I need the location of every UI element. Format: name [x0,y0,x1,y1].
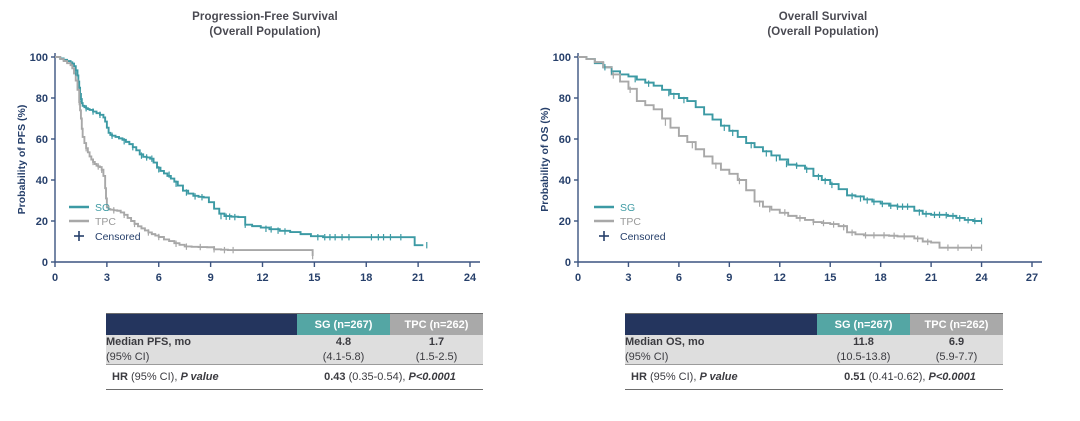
x-tick-label: 3 [104,272,110,284]
y-axis-label: Probability of OS (%) [540,108,551,212]
cell-tpc-median: 6.9 (5.9-7.7) [910,335,1003,365]
x-tick-label: 9 [726,272,732,284]
header-tpc: TPC (n=262) [910,314,1003,336]
x-tick-label: 21 [412,272,424,284]
header-sg: SG (n=267) [817,314,910,336]
x-tick-label: 27 [1026,272,1038,284]
cell-tpc-ci: (1.5-2.5) [416,351,458,363]
y-tick-label: 20 [36,216,48,228]
chart-title-line2: (Overall Population) [566,25,1080,40]
cell-tpc-ci: (5.9-7.7) [936,351,978,363]
table-row-hr: HR (95% CI), P value 0.43 (0.35-0.54), P… [106,365,483,390]
table-header-row: SG (n=267) TPC (n=262) [106,314,483,336]
y-tick-label: 0 [42,257,48,269]
table-header-row: SG (n=267) TPC (n=262) [625,314,1003,336]
row-label-line2: (95% CI) [106,351,149,363]
y-tick-label: 80 [36,93,48,105]
hr-label-bold: HR [631,371,647,383]
table-row: Median PFS, mo (95% CI) 4.8 (4.1-5.8) 1.… [106,335,483,365]
x-tick-label: 18 [360,272,372,284]
legend-label-censored: Censored [620,231,666,243]
hr-label-pvalue: P value [699,371,737,383]
cell-sg-value: 4.8 [336,336,351,348]
x-tick-label: 24 [975,272,988,284]
legend-label-sg: SG [620,202,635,214]
legend-label-tpc: TPC [620,216,641,228]
panel-os: Overall Survival (Overall Population) 02… [540,0,1080,289]
x-tick-label: 3 [625,272,631,284]
y-tick-label: 100 [553,52,571,64]
cell-sg-ci: (4.1-5.8) [323,351,365,363]
hr-ci: (0.41-0.62), [866,371,929,383]
legend-label-sg: SG [95,202,110,214]
hr-p: P<0.0001 [929,371,976,383]
row-label-line1: Median OS, mo [625,336,704,348]
row-label-line1: Median PFS, mo [106,336,191,348]
cell-hr-value: 0.43 (0.35-0.54), P<0.0001 [297,365,483,390]
plus-icon [599,231,609,241]
cell-sg-value: 11.8 [853,336,874,348]
curve-sg [578,57,982,221]
plot-os: 0204060801000369121518212427Time (months… [540,39,1080,289]
table-row-hr: HR (95% CI), P value 0.51 (0.41-0.62), P… [625,365,1003,390]
x-tick-label: 0 [575,272,581,284]
cell-sg-ci: (10.5-13.8) [837,351,891,363]
y-tick-label: 40 [559,175,571,187]
x-tick-label: 6 [156,272,162,284]
hr-number: 0.51 [844,371,865,383]
x-tick-label: 9 [208,272,214,284]
x-tick-label: 15 [308,272,320,284]
x-tick-label: 6 [676,272,682,284]
y-tick-label: 0 [565,257,571,269]
cell-hr-value: 0.51 (0.41-0.62), P<0.0001 [817,365,1003,390]
x-tick-label: 24 [464,272,477,284]
chart-title-pfs: Progression-Free Survival (Overall Popul… [30,0,500,39]
header-blank [106,314,297,336]
hr-label-rest: (95% CI), [128,371,181,383]
x-tick-label: 12 [774,272,786,284]
stats-table-os: SG (n=267) TPC (n=262) Median OS, mo (95… [625,313,1003,390]
row-label-median: Median OS, mo (95% CI) [625,335,817,365]
y-tick-label: 20 [559,216,571,228]
hr-ci: (0.35-0.54), [346,371,409,383]
x-tick-label: 12 [256,272,268,284]
km-plot-os: 0204060801000369121518212427Time (months… [540,39,1080,289]
row-label-median: Median PFS, mo (95% CI) [106,335,297,365]
y-tick-label: 60 [36,134,48,146]
hr-p: P<0.0001 [409,371,456,383]
chart-title-line2: (Overall Population) [30,25,500,40]
curve-tpc [55,57,313,256]
y-axis-label: Probability of PFS (%) [16,105,28,215]
hr-label-rest: (95% CI), [647,371,700,383]
plus-icon [74,231,84,241]
chart-title-line1: Overall Survival [566,10,1080,25]
row-label-hr: HR (95% CI), P value [625,365,817,390]
cell-tpc-value: 6.9 [949,336,964,348]
header-blank [625,314,817,336]
row-label-hr: HR (95% CI), P value [106,365,297,390]
chart-title-line1: Progression-Free Survival [30,10,500,25]
x-tick-label: 21 [925,272,937,284]
y-tick-label: 80 [559,93,571,105]
table-row: Median OS, mo (95% CI) 11.8 (10.5-13.8) … [625,335,1003,365]
y-tick-label: 40 [36,175,48,187]
x-tick-label: 0 [52,272,58,284]
figure-root: Progression-Free Survival (Overall Popul… [0,0,1080,421]
stats-table-pfs: SG (n=267) TPC (n=262) Median PFS, mo (9… [106,313,483,390]
cell-tpc-value: 1.7 [429,336,444,348]
cell-sg-median: 4.8 (4.1-5.8) [297,335,390,365]
header-tpc: TPC (n=262) [390,314,483,336]
legend-label-censored: Censored [95,231,141,243]
hr-label-bold: HR [112,371,128,383]
cell-sg-median: 11.8 (10.5-13.8) [817,335,910,365]
legend-label-tpc: TPC [95,216,116,228]
hr-label-pvalue: P value [180,371,218,383]
y-tick-label: 100 [30,52,48,64]
x-tick-label: 18 [875,272,887,284]
header-sg: SG (n=267) [297,314,390,336]
x-tick-label: 15 [824,272,836,284]
panel-pfs: Progression-Free Survival (Overall Popul… [0,0,500,289]
y-tick-label: 60 [559,134,571,146]
cell-tpc-median: 1.7 (1.5-2.5) [390,335,483,365]
hr-number: 0.43 [324,371,345,383]
row-label-line2: (95% CI) [625,351,668,363]
km-plot-pfs: 02040608010003691215182124Time (months)P… [0,39,500,289]
chart-title-os: Overall Survival (Overall Population) [566,0,1080,39]
plot-pfs: 02040608010003691215182124Time (months)P… [0,39,500,289]
